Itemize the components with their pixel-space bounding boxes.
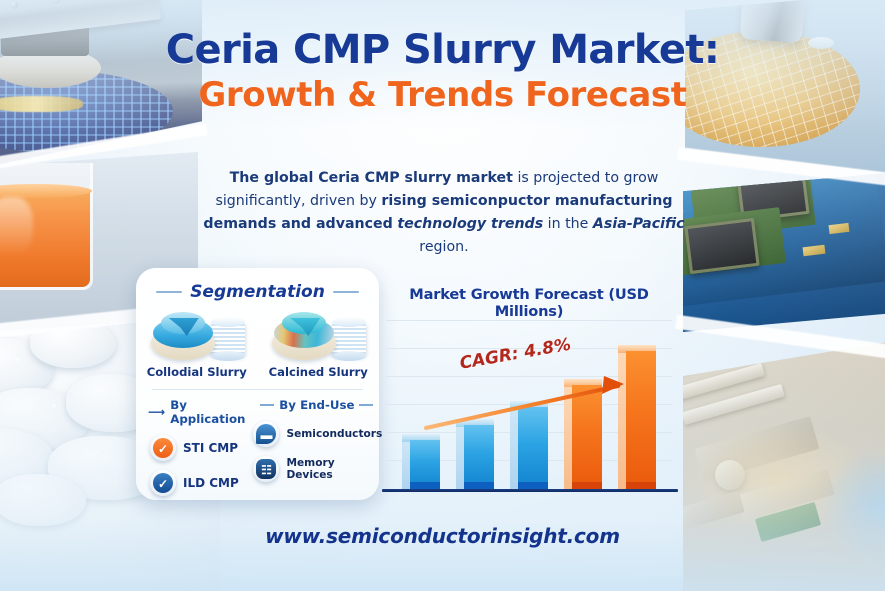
segmentation-columns: ⟶ By Application ✓ STI CMP ✓ ILD CMP By … (136, 398, 379, 496)
subtitle-paragraph: The global Ceria CMP slurry market is pr… (186, 167, 702, 259)
segmentation-card: Segmentation Collodial Slurry (136, 268, 379, 500)
slurry-type-label: Collodial Slurry (145, 365, 249, 379)
title-line-2: Growth & Trends Forecast (0, 75, 885, 115)
segmentation-divider (152, 389, 363, 390)
list-item-label: Memory Devices (286, 457, 382, 481)
subtitle-seg-1: The global Ceria CMP slurry market (230, 170, 513, 186)
semiconductors-icon: ▬ (253, 421, 279, 447)
list-item-label: ILD CMP (183, 476, 239, 490)
chart-plot-area: CAGR: 4.8% (386, 320, 672, 492)
slurry-type-colloidal[interactable]: Collodial Slurry (145, 310, 249, 379)
slurry-type-label: Calcined Slurry (266, 365, 370, 379)
sti-cmp-icon: ✓ (150, 435, 176, 461)
segmentation-header: Segmentation (136, 282, 379, 302)
calcined-slurry-pad-icon (270, 310, 366, 362)
slurry-type-list: Collodial Slurry Calcined Slurry (136, 310, 379, 379)
ild-cmp-icon: ✓ (150, 470, 176, 496)
colloidal-slurry-pad-icon (149, 310, 245, 362)
by-end-use-column: By End-Use ▬ Semiconductors ☷ Memory Dev… (251, 398, 382, 496)
by-application-column: ⟶ By Application ✓ STI CMP ✓ ILD CMP (148, 398, 245, 496)
memory-devices-icon: ☷ (253, 456, 279, 482)
website-url[interactable]: www.semiconductorinsight.com (0, 524, 885, 548)
page-title: Ceria CMP Slurry Market: Growth & Trends… (0, 30, 885, 115)
chart-bar (402, 434, 440, 489)
cagr-trend-arrow-icon (422, 374, 642, 434)
chart-gridline (386, 320, 672, 321)
check-glyph: ✓ (158, 443, 168, 455)
by-end-use-heading: By End-Use (251, 398, 382, 412)
list-item-label: Semiconductors (286, 428, 382, 440)
list-item[interactable]: ▬ Semiconductors (251, 421, 382, 447)
chip-glyph: ▬ (260, 429, 272, 441)
by-application-heading: ⟶ By Application (148, 398, 245, 426)
title-line-1: Ceria CMP Slurry Market: (0, 30, 885, 71)
chart-title: Market Growth Forecast (USD Millions) (386, 286, 672, 320)
subtitle-seg-7: Asia-Pacific (593, 216, 685, 232)
arrow-right-icon: ⟶ (148, 406, 165, 418)
slurry-type-calcined[interactable]: Calcined Slurry (266, 310, 370, 379)
heading-dash-right (359, 404, 373, 406)
list-item[interactable]: ☷ Memory Devices (251, 456, 382, 482)
memory-glyph: ☷ (261, 464, 272, 476)
list-item[interactable]: ✓ ILD CMP (148, 470, 245, 496)
by-end-use-label: By End-Use (279, 398, 354, 412)
header-dash-right (333, 291, 359, 293)
header-dash-left (156, 291, 182, 293)
subtitle-seg-6: in the (543, 216, 593, 232)
heading-dash-left (260, 404, 274, 406)
infographic-canvas: Ceria CMP Slurry Market: Growth & Trends… (0, 0, 885, 591)
segmentation-title: Segmentation (190, 282, 325, 302)
check-glyph: ✓ (158, 478, 168, 490)
list-item-label: STI CMP (183, 441, 238, 455)
subtitle-seg-5: technology trends (397, 216, 543, 232)
subtitle-seg-8: region. (419, 239, 468, 255)
market-growth-chart: Market Growth Forecast (USD Millions) CA… (386, 286, 672, 502)
by-application-label: By Application (170, 398, 245, 426)
list-item[interactable]: ✓ STI CMP (148, 435, 245, 461)
chart-baseline-axis (382, 489, 678, 492)
